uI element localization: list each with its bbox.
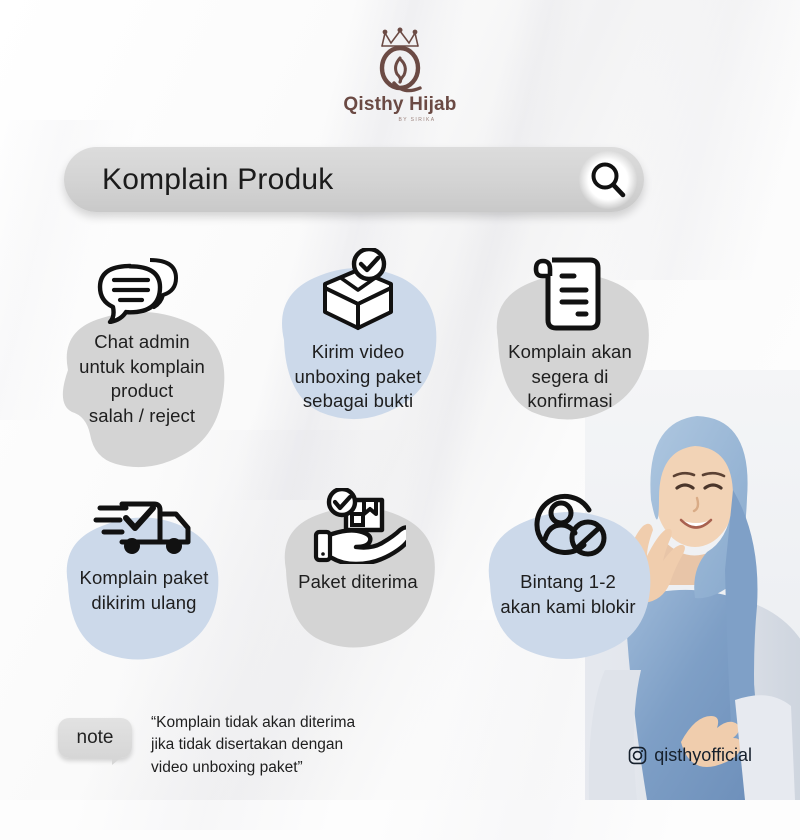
instagram-handle-text: qisthyofficial bbox=[654, 745, 752, 766]
hand-package-check-icon bbox=[310, 488, 406, 564]
brand-subtitle: BY SIRIKA bbox=[399, 117, 436, 123]
user-blocked-icon bbox=[526, 488, 610, 564]
step-kirim-ulang[interactable]: Komplain paket dikirim ulang bbox=[44, 492, 244, 615]
search-bar[interactable]: Komplain Produk bbox=[64, 147, 644, 212]
chat-bubbles-icon bbox=[94, 252, 190, 324]
step-paket-diterima[interactable]: Paket diterima bbox=[258, 488, 458, 595]
step-label: Paket diterima bbox=[298, 570, 418, 595]
brand-logo: Qisthy Hijab BY SIRIKA bbox=[0, 26, 800, 123]
brand-name: Qisthy Hijab bbox=[343, 94, 456, 116]
step-label: Komplain akan segera di konfirmasi bbox=[508, 340, 632, 414]
open-box-check-icon bbox=[311, 248, 405, 334]
search-button[interactable] bbox=[572, 144, 644, 216]
step-kirim-video[interactable]: Kirim video unboxing paket sebagai bukti bbox=[258, 248, 458, 414]
step-bintang-blokir[interactable]: Bintang 1-2 akan kami blokir bbox=[468, 488, 668, 619]
step-label: Chat admin untuk komplain product salah … bbox=[79, 330, 205, 428]
document-scroll-icon bbox=[530, 250, 610, 334]
note-text: “Komplain tidak akan diterima jika tidak… bbox=[151, 712, 355, 779]
step-konfirmasi[interactable]: Komplain akan segera di konfirmasi bbox=[470, 250, 670, 414]
step-label: Kirim video unboxing paket sebagai bukti bbox=[295, 340, 422, 414]
instagram-icon bbox=[628, 746, 647, 765]
delivery-truck-check-icon bbox=[92, 492, 196, 560]
note-badge: note bbox=[58, 718, 132, 758]
step-label: Komplain paket dikirim ulang bbox=[80, 566, 209, 615]
step-chat-admin[interactable]: Chat admin untuk komplain product salah … bbox=[42, 252, 242, 428]
note-section: note “Komplain tidak akan diterima jika … bbox=[58, 712, 355, 779]
search-icon bbox=[586, 158, 630, 202]
step-label: Bintang 1-2 akan kami blokir bbox=[500, 570, 635, 619]
instagram-handle[interactable]: qisthyofficial bbox=[628, 745, 752, 766]
search-title: Komplain Produk bbox=[102, 163, 333, 197]
crown-q-logo-icon bbox=[364, 26, 436, 98]
